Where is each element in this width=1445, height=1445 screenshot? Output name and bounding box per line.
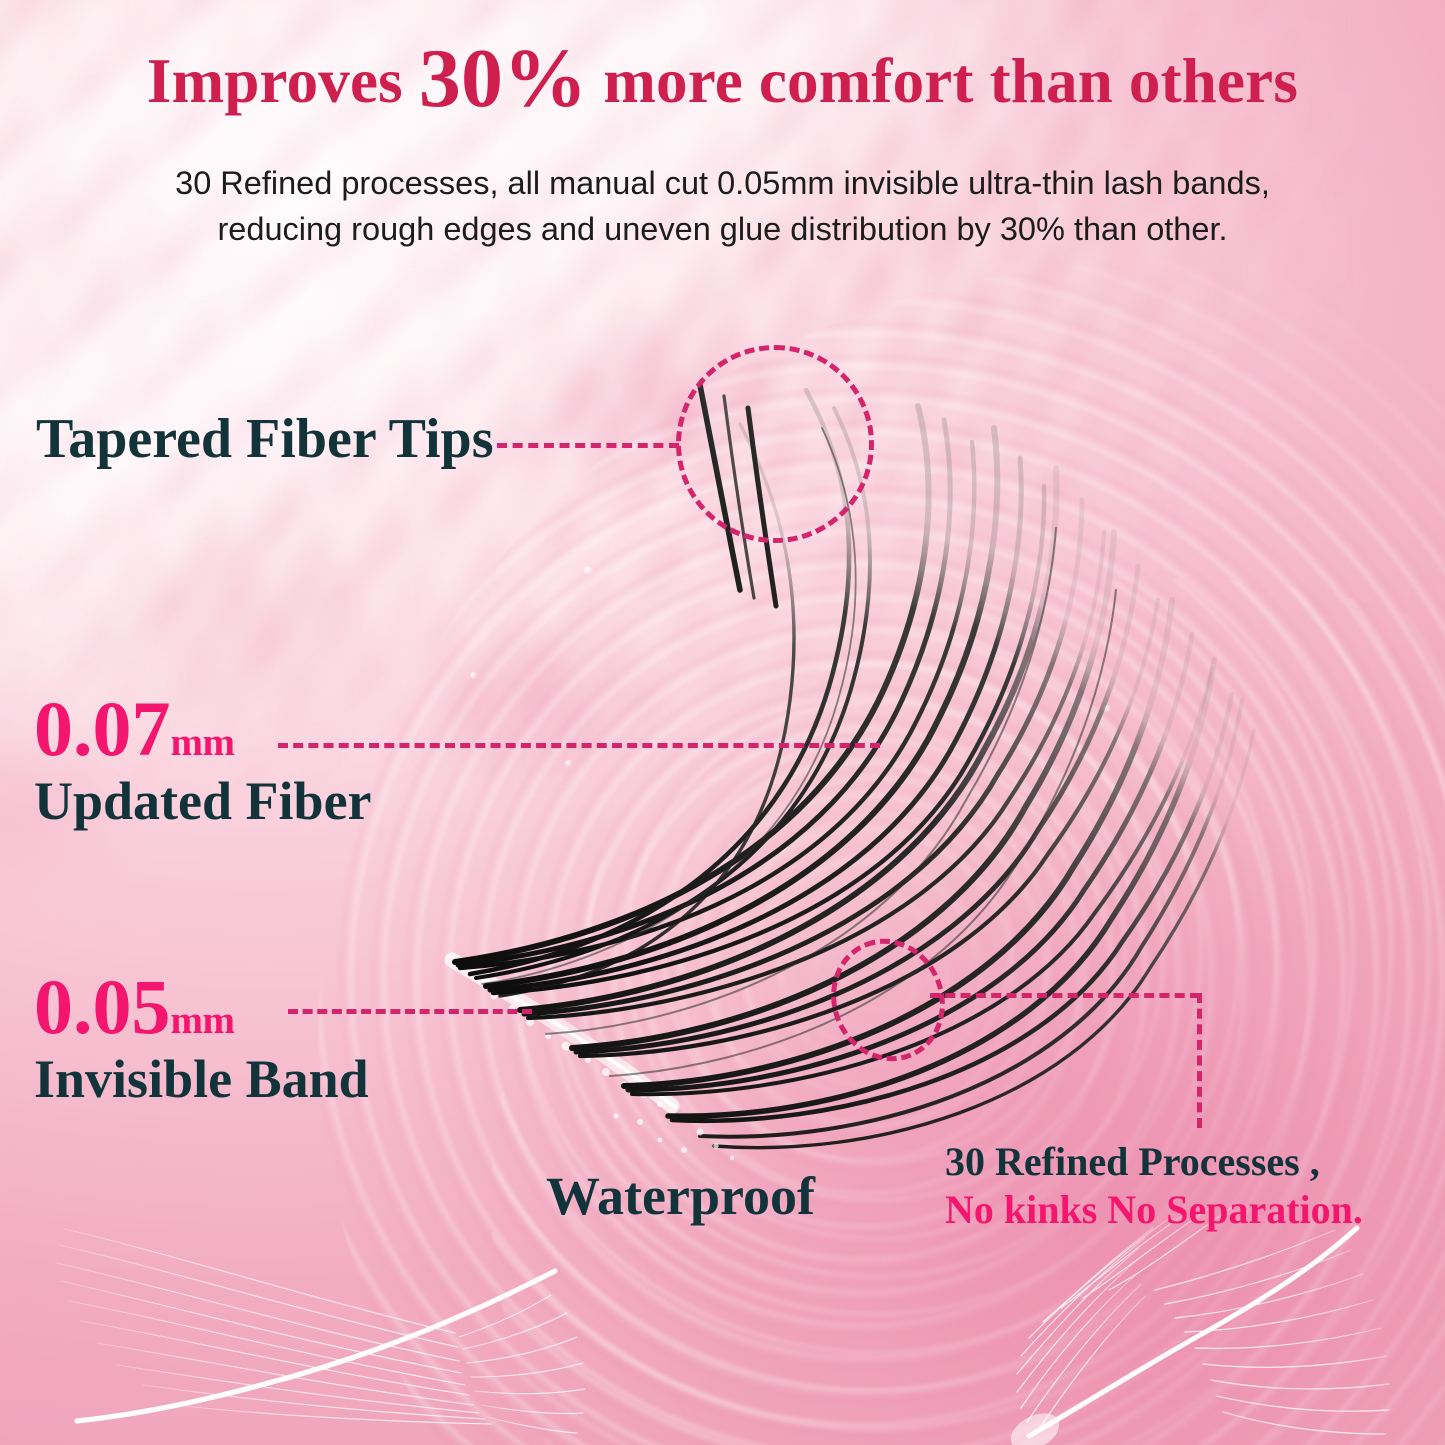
- invisible-band-label: Invisible Band: [34, 1048, 369, 1110]
- connector-refined-vertical: [1197, 993, 1202, 1128]
- callout-refined-processes: 30 Refined Processes , No kinks No Separ…: [945, 1138, 1363, 1233]
- subtitle-line-1: 30 Refined processes, all manual cut 0.0…: [0, 160, 1445, 206]
- updated-fiber-label: Updated Fiber: [34, 770, 372, 832]
- invisible-band-unit: mm: [171, 999, 235, 1042]
- dashed-circle-tips: [676, 345, 874, 543]
- page-headline: Improves 30% more comfort than others: [0, 37, 1445, 121]
- infographic-canvas: Improves 30% more comfort than others 30…: [0, 0, 1445, 1445]
- callout-invisible-band: 0.05mm Invisible Band: [34, 968, 369, 1110]
- invisible-band-value: 0.05mm: [34, 968, 369, 1046]
- subtitle-line-2: reducing rough edges and uneven glue dis…: [0, 206, 1445, 252]
- feather-left: [55, 1215, 655, 1445]
- water-bubble: [470, 672, 477, 679]
- refined-line-1: 30 Refined Processes ,: [945, 1138, 1363, 1185]
- updated-fiber-unit: mm: [171, 721, 235, 764]
- water-bubble: [584, 566, 593, 575]
- refined-line-2: No kinks No Separation.: [945, 1186, 1363, 1233]
- headline-after: more comfort than others: [587, 46, 1298, 116]
- headline-before: Improves: [147, 46, 419, 116]
- headline-emphasis: 30%: [419, 32, 588, 125]
- connector-tapered-tips: [497, 443, 679, 448]
- updated-fiber-number: 0.07: [34, 685, 171, 772]
- page-subtitle: 30 Refined processes, all manual cut 0.0…: [0, 160, 1445, 252]
- invisible-band-number: 0.05: [34, 963, 171, 1050]
- water-bubble: [1103, 705, 1111, 713]
- callout-tapered-fiber-tips: Tapered Fiber Tips: [36, 410, 494, 468]
- connector-refined-horizontal: [930, 993, 1200, 998]
- updated-fiber-value: 0.07mm: [34, 690, 372, 768]
- water-bubble: [565, 760, 572, 767]
- callout-waterproof: Waterproof: [546, 1168, 815, 1224]
- callout-updated-fiber: 0.07mm Updated Fiber: [34, 690, 372, 832]
- feather-right: [1005, 1200, 1445, 1445]
